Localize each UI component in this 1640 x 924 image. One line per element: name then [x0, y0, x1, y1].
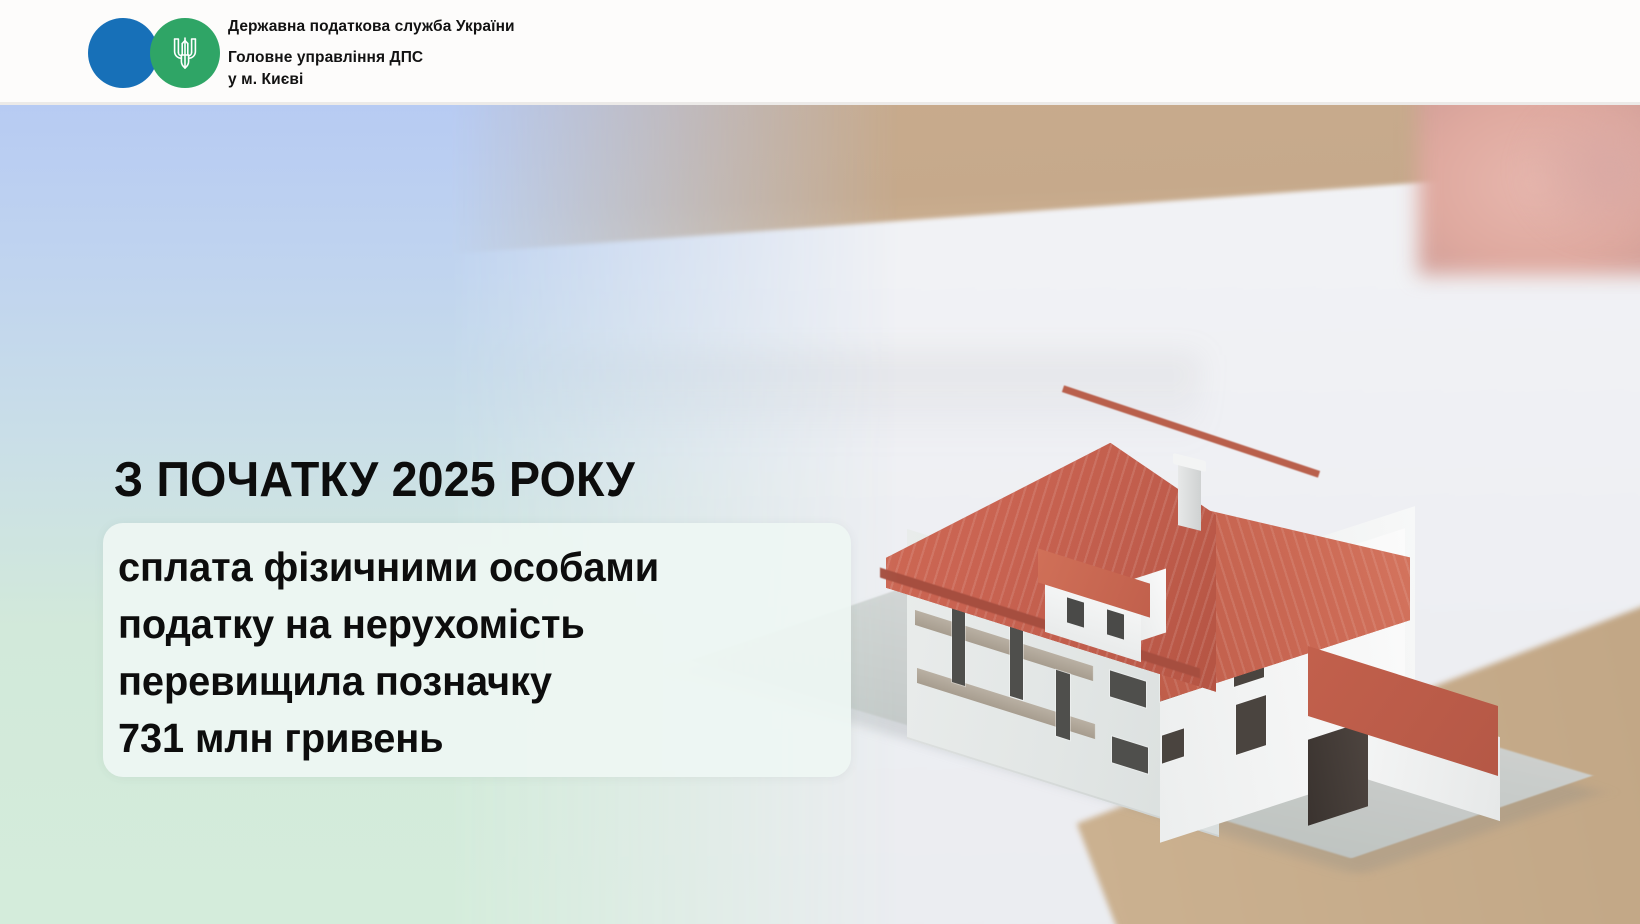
- agency-name-line-2: Головне управління ДПС: [228, 47, 928, 69]
- statement-line-3: перевищила позначку: [118, 653, 816, 710]
- header-divider: [0, 102, 1640, 105]
- dormer-window-2: [1107, 609, 1124, 639]
- blurred-hand-highlight: [1520, 105, 1640, 245]
- statement-line-2: податку на нерухомість: [118, 596, 816, 653]
- gradient-overlay: [0, 105, 900, 924]
- logo-blue-circle-icon: [88, 18, 158, 88]
- agency-logo[interactable]: [88, 18, 220, 88]
- window-left-tall-3: [1056, 670, 1070, 740]
- ukraine-trident-icon: [150, 18, 220, 88]
- infographic-banner: З ПОЧАТКУ 2025 РОКУ сплата фізичними осо…: [0, 0, 1640, 924]
- agency-name-block: Державна податкова служба України Головн…: [228, 16, 928, 91]
- statement-text: сплата фізичними особами податку на неру…: [118, 539, 816, 767]
- statement-line-1: сплата фізичними особами: [118, 539, 816, 596]
- statement-line-4: 731 млн гривень: [118, 710, 816, 767]
- agency-name-line-1: Державна податкова служба України: [228, 16, 928, 38]
- door-right: [1236, 695, 1266, 755]
- photo-canvas: З ПОЧАТКУ 2025 РОКУ сплата фізичними осо…: [0, 105, 1640, 924]
- agency-name-line-3: у м. Києві: [228, 69, 928, 91]
- garage-door: [1308, 720, 1368, 825]
- site-header: Державна податкова служба України Головн…: [0, 0, 1640, 105]
- page-title: З ПОЧАТКУ 2025 РОКУ: [114, 453, 635, 507]
- model-house: [860, 400, 1500, 820]
- dormer-window-1: [1067, 597, 1084, 627]
